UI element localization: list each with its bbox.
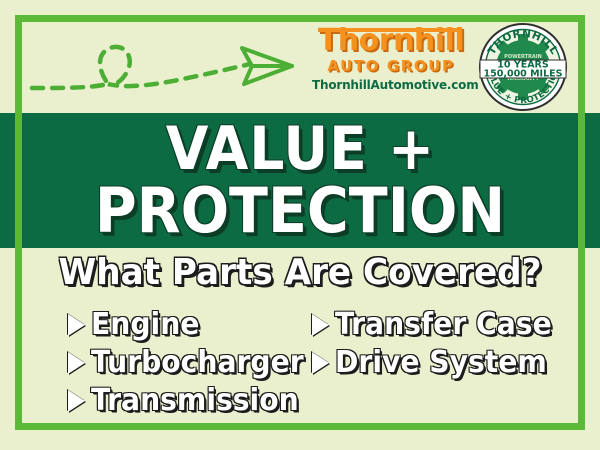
coverage-question: What Parts Are Covered? — [15, 252, 585, 294]
list-item: Transfer Case — [312, 306, 566, 344]
main-headline: VALUE + PROTECTION — [0, 112, 600, 248]
logo-wordmark: Thornhill — [312, 26, 470, 56]
headline-line-1: VALUE + — [165, 118, 434, 180]
list-item: Engine — [68, 306, 317, 344]
part-label: Turbocharger — [91, 346, 304, 380]
advertisement-banner: Thornhill AUTO GROUP ThornhillAutomotive… — [0, 0, 600, 450]
seal-miles-text: 150,000 MILES — [484, 69, 563, 80]
list-item: Turbocharger — [68, 344, 317, 382]
dashed-loop-path-icon — [28, 26, 298, 106]
triangle-bullet-icon — [312, 314, 329, 336]
warranty-seal-badge: THORNHILL VALUE + PROTECTION POWERTRAIN … — [478, 22, 568, 112]
part-label: Drive System — [335, 346, 547, 380]
logo-subtitle: AUTO GROUP — [312, 57, 470, 75]
covered-parts-right-column: Transfer Case Drive System — [312, 306, 566, 382]
covered-parts-list: Engine Turbocharger Transmission Transfe… — [40, 306, 560, 421]
list-item: Drive System — [312, 344, 566, 382]
logo-website: ThornhillAutomotive.com — [312, 78, 470, 92]
part-label: Transmission — [91, 384, 299, 418]
triangle-bullet-icon — [312, 352, 329, 374]
triangle-bullet-icon — [68, 314, 85, 336]
part-label: Engine — [91, 308, 199, 342]
thornhill-logo: Thornhill AUTO GROUP ThornhillAutomotive… — [312, 26, 470, 100]
headline-line-2: PROTECTION — [95, 180, 505, 242]
triangle-bullet-icon — [68, 352, 85, 374]
covered-parts-left-column: Engine Turbocharger Transmission — [68, 306, 317, 420]
part-label: Transfer Case — [335, 308, 552, 342]
list-item: Transmission — [68, 382, 317, 420]
triangle-bullet-icon — [68, 390, 85, 412]
